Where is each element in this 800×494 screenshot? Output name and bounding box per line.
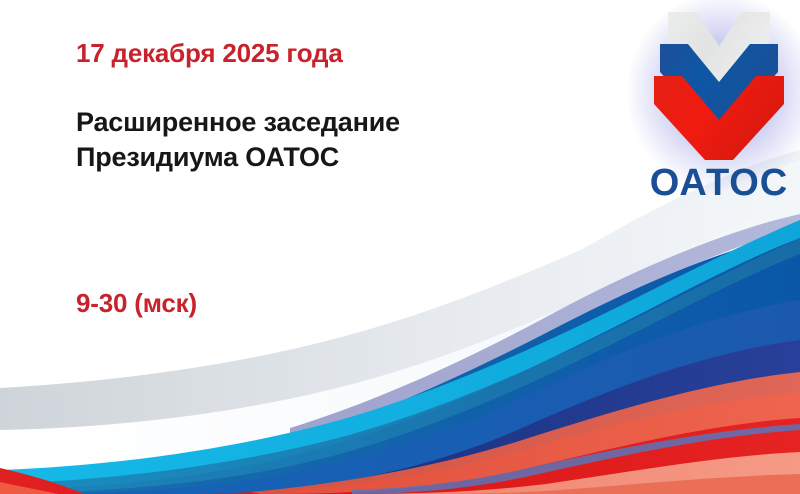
- event-title: Расширенное заседание Президиума ОАТОС: [76, 105, 400, 174]
- event-title-line-1: Расширенное заседание: [76, 105, 400, 140]
- oatos-logo: ОАТОС: [638, 0, 800, 215]
- event-title-line-2: Президиума ОАТОС: [76, 140, 400, 175]
- event-time: 9-30 (мск): [76, 288, 197, 319]
- poster-canvas: 17 декабря 2025 года Расширенное заседан…: [0, 0, 800, 494]
- triple-chevron-down-icon: [638, 0, 800, 172]
- logo-wordmark: ОАТОС: [638, 164, 800, 202]
- event-text-block: 17 декабря 2025 года Расширенное заседан…: [76, 0, 546, 494]
- event-date: 17 декабря 2025 года: [76, 38, 343, 69]
